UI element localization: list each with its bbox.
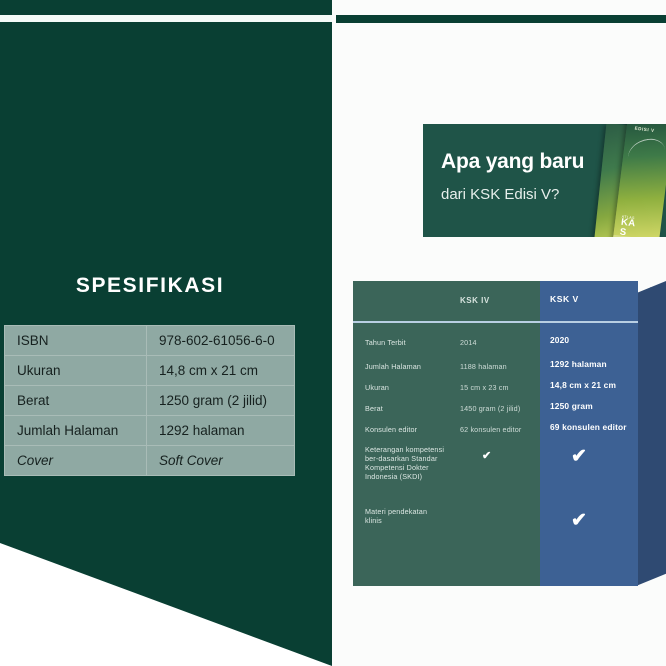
spec-label-berat: Berat bbox=[5, 386, 147, 416]
spec-value-halaman: 1292 halaman bbox=[147, 416, 295, 446]
specification-table: ISBN 978-602-61056-6-0 Ukuran 14,8 cm x … bbox=[4, 325, 295, 476]
spec-label-isbn: ISBN bbox=[5, 326, 147, 356]
spec-label-halaman: Jumlah Halaman bbox=[5, 416, 147, 446]
checkmark-icon-ksk4-skdi: ✔ bbox=[482, 451, 491, 462]
row-label-materi-klinis: Materi pendekatan klinis bbox=[365, 507, 445, 525]
spec-title: SPESIFIKASI bbox=[0, 274, 300, 298]
row-ksk4-tahun-terbit: 2014 bbox=[460, 338, 477, 347]
spec-value-ukuran: 14,8 cm x 21 cm bbox=[147, 356, 295, 386]
hero-title: Apa yang baru bbox=[441, 150, 584, 174]
row-label-berat: Berat bbox=[365, 404, 383, 413]
checkmark-icon-ksk5-materi-klinis: ✔ bbox=[571, 511, 587, 530]
poster-canvas: SPESIFIKASI ISBN 978-602-61056-6-0 Ukura… bbox=[0, 0, 666, 666]
row-ksk4-berat: 1450 gram (2 jilid) bbox=[460, 404, 520, 413]
comparison-right-column-highlight bbox=[540, 281, 638, 586]
hero-subtitle: dari KSK Edisi V? bbox=[441, 186, 559, 203]
row-label-skdi: Keterangan kompetensi ber-dasarkan Stand… bbox=[365, 445, 445, 481]
checkmark-icon-ksk5-skdi: ✔ bbox=[571, 447, 587, 466]
right-top-stripe bbox=[336, 15, 666, 23]
row-ksk5-konsulen-editor: 69 konsulen editor bbox=[550, 423, 627, 432]
row-ksk4-ukuran: 15 cm x 23 cm bbox=[460, 383, 509, 392]
header-divider bbox=[353, 321, 638, 323]
comparison-table: KSK IV KSK V Tahun Terbit 2014 2020 Juml… bbox=[353, 281, 666, 586]
table-row: Cover Soft Cover bbox=[5, 446, 295, 476]
row-label-ukuran: Ukuran bbox=[365, 383, 389, 392]
bottom-left-diagonal-wedge bbox=[0, 516, 332, 666]
table-row: Jumlah Halaman 1292 halaman bbox=[5, 416, 295, 446]
left-panel-top-stripe bbox=[0, 15, 332, 22]
column-header-ksk-iv: KSK IV bbox=[460, 296, 490, 305]
column-header-ksk-v: KSK V bbox=[550, 295, 579, 304]
spec-value-cover: Soft Cover bbox=[147, 446, 295, 476]
book-edition-label: EDISI V bbox=[634, 126, 655, 133]
spec-value-isbn: 978-602-61056-6-0 bbox=[147, 326, 295, 356]
row-ksk4-konsulen-editor: 62 konsulen editor bbox=[460, 425, 521, 434]
row-label-tahun-terbit: Tahun Terbit bbox=[365, 338, 406, 347]
row-ksk5-berat: 1250 gram bbox=[550, 402, 593, 411]
row-ksk4-jumlah-halaman: 1188 halaman bbox=[460, 362, 507, 371]
row-ksk5-ukuran: 14,8 cm x 21 cm bbox=[550, 381, 616, 390]
spec-label-ukuran: Ukuran bbox=[5, 356, 147, 386]
hero-card: Apa yang baru dari KSK Edisi V? EDISI V … bbox=[423, 124, 666, 237]
row-ksk5-tahun-terbit: 2020 bbox=[550, 336, 569, 345]
table-row: Berat 1250 gram (2 jilid) bbox=[5, 386, 295, 416]
book-swoosh-decoration bbox=[626, 137, 666, 172]
book-stack-illustration: EDISI V ATLAS KAS bbox=[596, 124, 666, 237]
spec-label-cover: Cover bbox=[5, 446, 147, 476]
row-label-konsulen-editor: Konsulen editor bbox=[365, 425, 417, 434]
table-row: ISBN 978-602-61056-6-0 bbox=[5, 326, 295, 356]
book-title-label: KAS bbox=[619, 218, 636, 237]
book-bottom-strip bbox=[612, 235, 659, 237]
table-3d-side-panel bbox=[636, 281, 666, 586]
table-row: Ukuran 14,8 cm x 21 cm bbox=[5, 356, 295, 386]
spec-value-berat: 1250 gram (2 jilid) bbox=[147, 386, 295, 416]
row-ksk5-jumlah-halaman: 1292 halaman bbox=[550, 360, 607, 369]
row-label-jumlah-halaman: Jumlah Halaman bbox=[365, 362, 421, 371]
